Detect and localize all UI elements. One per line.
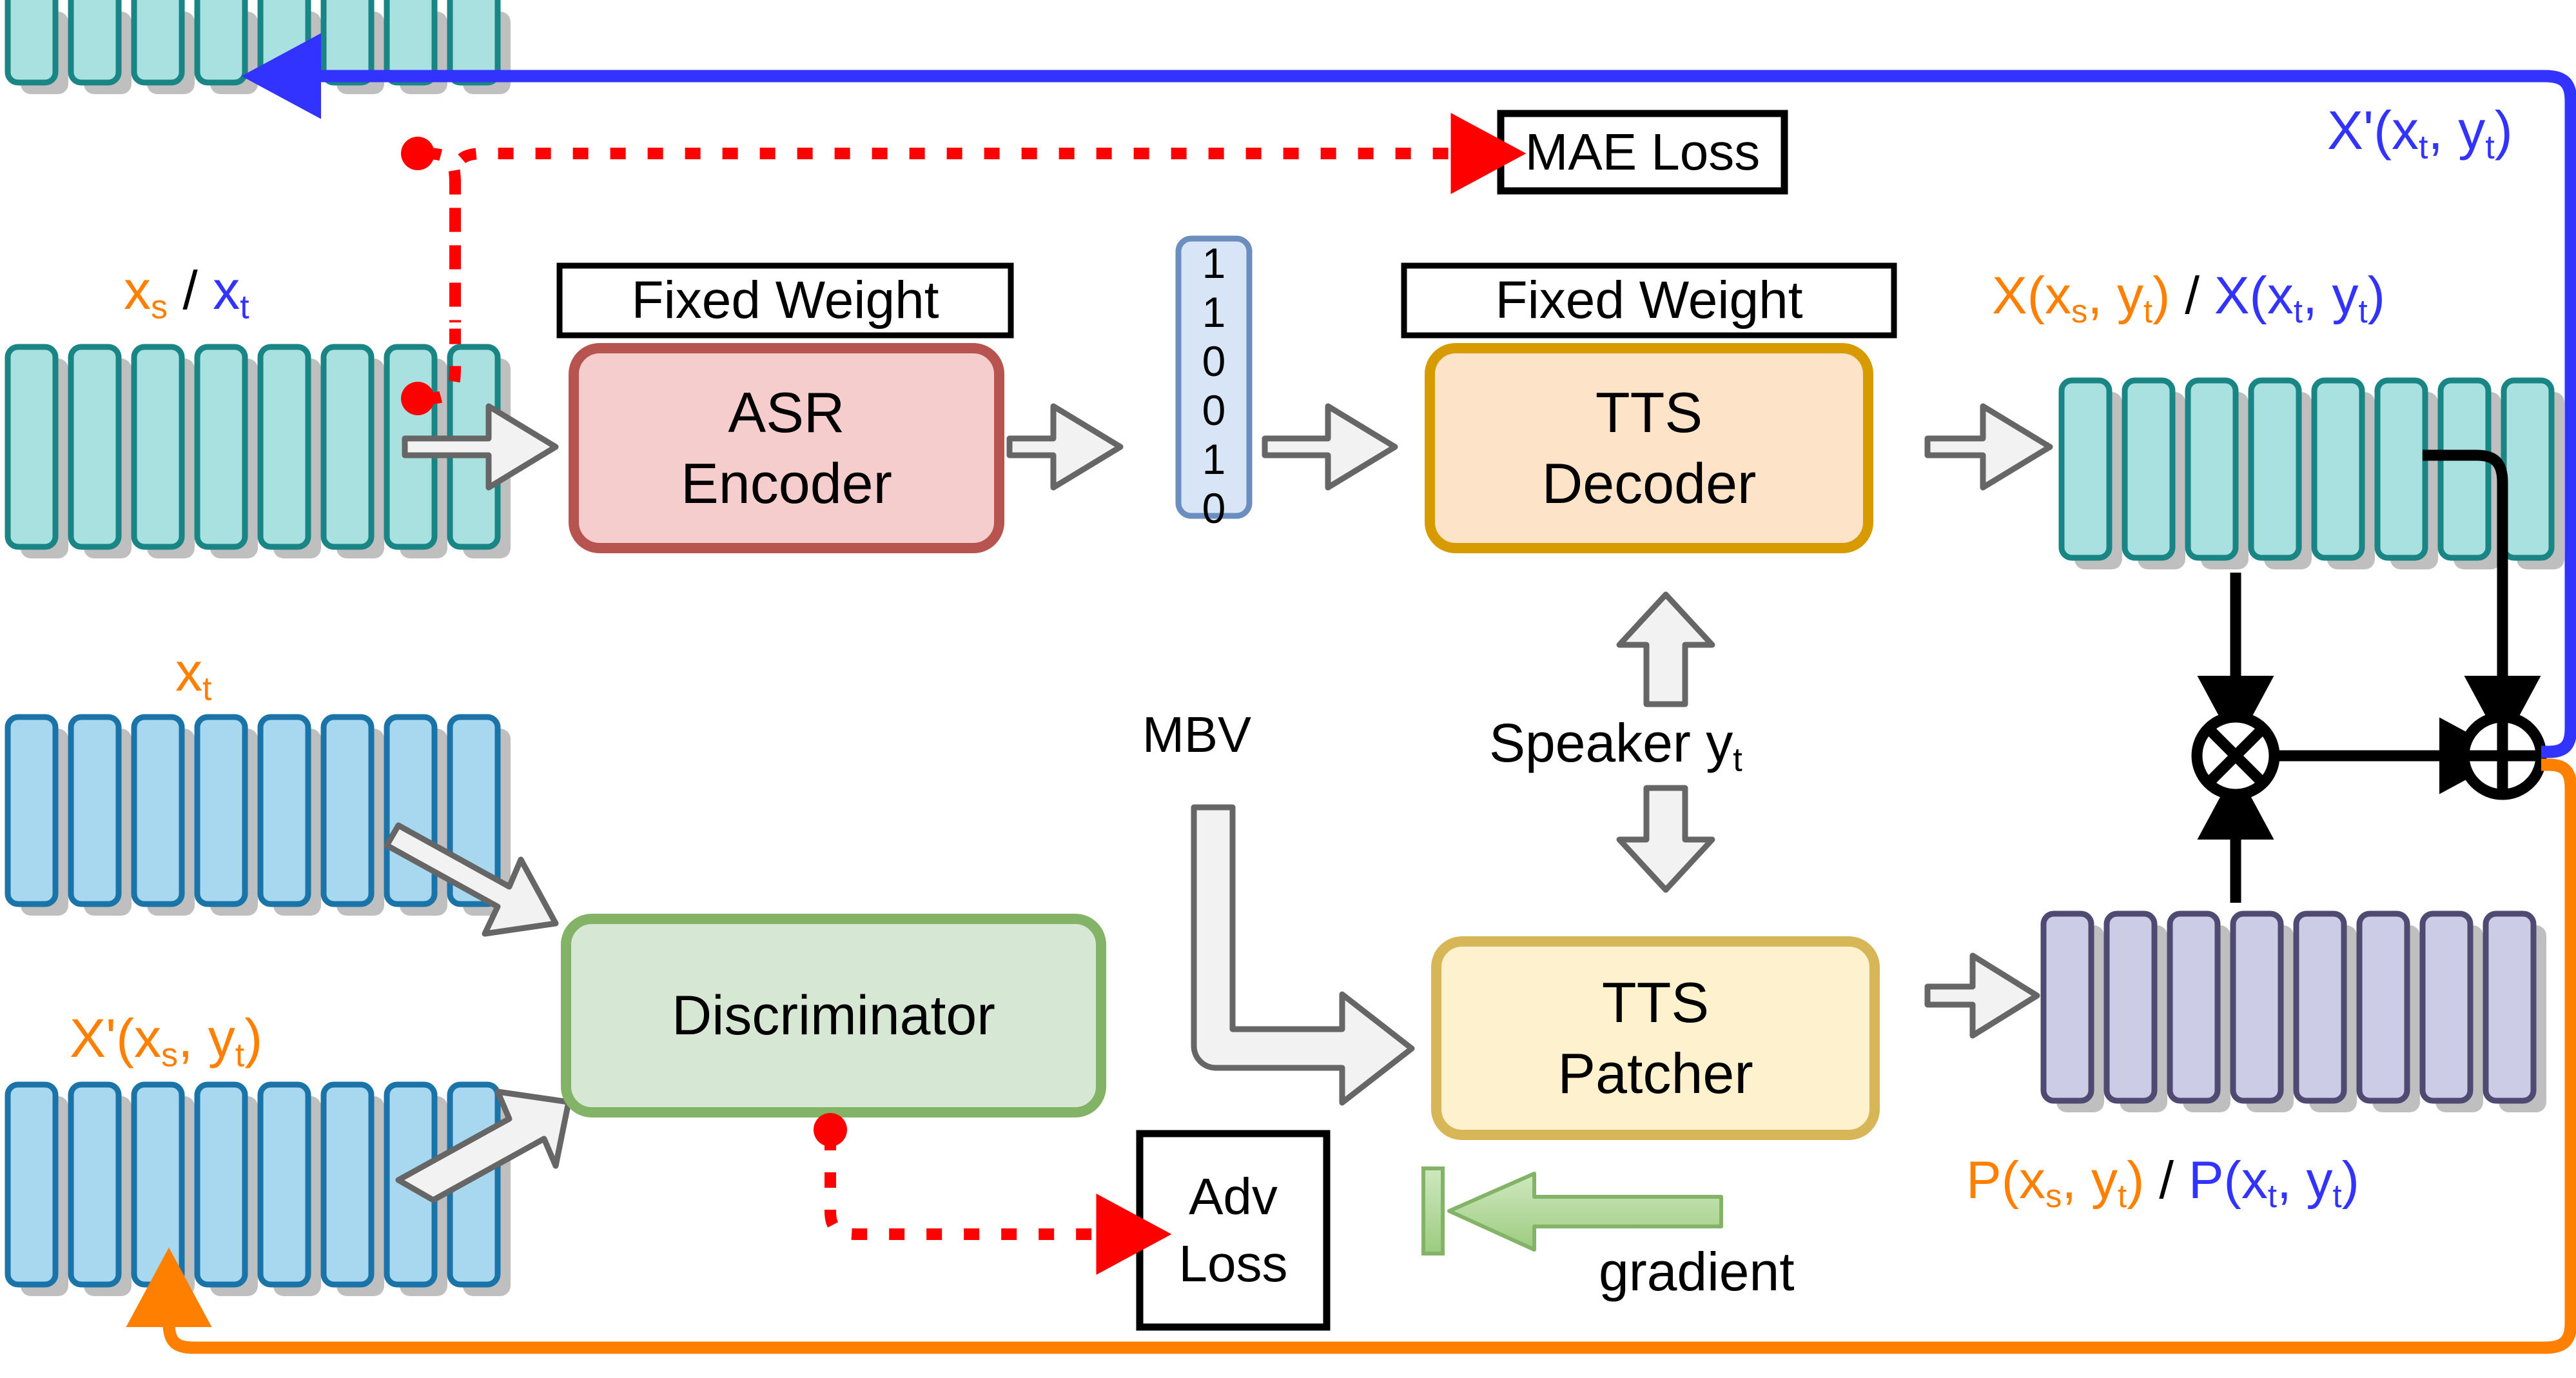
output-x-label: X(xs, yt) / X(xt, yt)	[1992, 270, 2385, 328]
patch-p-label: P(xs, yt) / P(xt, yt)	[1966, 1154, 2359, 1213]
mbv-bit: 0	[1202, 386, 1226, 435]
tap-point-discriminator	[814, 1113, 847, 1147]
bar-group-output-teal	[2062, 380, 2564, 569]
speaker-label: Speaker yt	[1489, 716, 1742, 777]
input-top-label: xs / xt	[124, 263, 249, 324]
speaker-sub: t	[1733, 742, 1742, 779]
p-xt-end: )	[2342, 1151, 2359, 1210]
x-xt-a: X(x	[2214, 266, 2294, 325]
p-xs-a: P(x	[1966, 1151, 2045, 1210]
x-xt-sub2: t	[2359, 293, 2368, 330]
p-xs-sub1: s	[2045, 1177, 2062, 1214]
p-xt-sub1: t	[2268, 1177, 2277, 1214]
x-xt-mid: , y	[2303, 266, 2359, 325]
xprime-xs-yt-label: X'(xs, yt)	[70, 1011, 262, 1072]
p-xs-mid: , y	[2062, 1151, 2118, 1210]
mbv-caption: MBV	[1142, 709, 1251, 760]
mbv-bits: 1 1 0 0 1 0	[1178, 239, 1249, 516]
input-xt-sub: t	[240, 289, 249, 326]
fixed-weight-left-label: Fixed Weight	[560, 266, 1011, 335]
block-arrow-asr-to-mbv	[1010, 406, 1120, 487]
x-xt-sub1: t	[2294, 293, 2303, 330]
xprime2-end: )	[2495, 100, 2513, 161]
xprime2-sub1: t	[2419, 129, 2428, 166]
p-xs-sub2: t	[2118, 1177, 2127, 1214]
tts-decoder-label: TTS Decoder	[1430, 348, 1868, 548]
p-xs-end: )	[2127, 1151, 2144, 1210]
mbv-bit: 0	[1202, 484, 1226, 533]
xt-label: xt	[175, 645, 211, 706]
p-xt-sub2: t	[2333, 1177, 2342, 1214]
tap-point-bottom	[401, 382, 434, 415]
block-arrow-speaker-up	[1619, 595, 1712, 704]
tts-patcher-label: TTS Patcher	[1436, 941, 1875, 1135]
tap-point-top	[401, 137, 434, 170]
add-operator	[2464, 717, 2541, 794]
xprime-sub2: t	[235, 1037, 244, 1074]
adv-loss-label: Adv Loss	[1140, 1134, 1327, 1327]
x-xt-end: )	[2368, 266, 2385, 325]
xprime-a: X'(x	[70, 1008, 161, 1068]
xprime-mid: , y	[178, 1008, 235, 1068]
block-arrow-mbv-to-ttsdecoder	[1265, 406, 1395, 487]
x-xs-mid: , y	[2087, 266, 2143, 325]
xprime2-a: X'(x	[2327, 100, 2419, 161]
x-xs-sub1: s	[2071, 293, 2087, 330]
x-xs-a: X(x	[1992, 266, 2071, 325]
xprime-xt-yt-label: X'(xt, yt)	[2327, 103, 2513, 164]
mae-loss-label: MAE Loss	[1501, 113, 1784, 191]
input-xt-text: x	[213, 260, 240, 320]
xprime-end: )	[244, 1008, 262, 1068]
block-arrow-mbv-elbow-to-patcher	[1194, 807, 1412, 1103]
mbv-bit: 1	[1202, 435, 1226, 484]
xprime-sub1: s	[161, 1037, 178, 1074]
patch-label-separator: /	[2159, 1151, 2174, 1210]
mbv-bit: 1	[1202, 288, 1226, 337]
tts-patcher-line1: TTS	[1602, 967, 1709, 1038]
xt-sub: t	[202, 671, 211, 708]
bar-group-xt-blue	[8, 717, 511, 916]
tts-decoder-line2: Decoder	[1542, 448, 1757, 519]
adv-loss-line2: Loss	[1179, 1230, 1288, 1297]
xt-text: x	[175, 642, 202, 702]
tts-decoder-line1: TTS	[1595, 377, 1703, 448]
asr-encoder-label: ASR Encoder	[574, 348, 999, 548]
bar-group-patch-purple	[2044, 914, 2546, 1112]
asr-encoder-line2: Encoder	[681, 448, 892, 519]
adv-loss-dotted-path	[814, 1113, 1122, 1234]
xprime2-mid: , y	[2428, 100, 2486, 161]
speaker-text: Speaker y	[1489, 713, 1733, 773]
discriminator-label: Discriminator	[566, 919, 1101, 1112]
p-xt-a: P(x	[2189, 1151, 2268, 1210]
x-xs-sub2: t	[2143, 293, 2152, 330]
p-xt-mid: , y	[2277, 1151, 2333, 1210]
input-xs-text: x	[124, 260, 151, 320]
label-separator: /	[168, 260, 213, 320]
multiply-operator	[2197, 717, 2274, 794]
tts-patcher-line2: Patcher	[1557, 1038, 1753, 1109]
mbv-bit: 0	[1202, 337, 1226, 386]
mbv-bit: 1	[1202, 239, 1226, 288]
xprime2-sub2: t	[2485, 129, 2494, 166]
diagram-canvas: 1 1 0 0 1 0 MBV Fixed Weight Fixed Weigh…	[0, 0, 2576, 1378]
fixed-weight-right-label: Fixed Weight	[1404, 266, 1894, 335]
asr-encoder-line1: ASR	[728, 377, 845, 448]
x-xs-end: )	[2152, 266, 2170, 325]
input-xs-sub: s	[151, 289, 168, 326]
block-arrow-ttsdecoder-to-output	[1927, 406, 2050, 487]
gradient-label: gradient	[1599, 1245, 1795, 1299]
output-label-separator: /	[2185, 266, 2200, 325]
adv-loss-line1: Adv	[1189, 1163, 1278, 1230]
block-arrow-speaker-down	[1619, 788, 1712, 890]
block-arrow-ttspatcher-to-patch	[1927, 956, 2037, 1036]
